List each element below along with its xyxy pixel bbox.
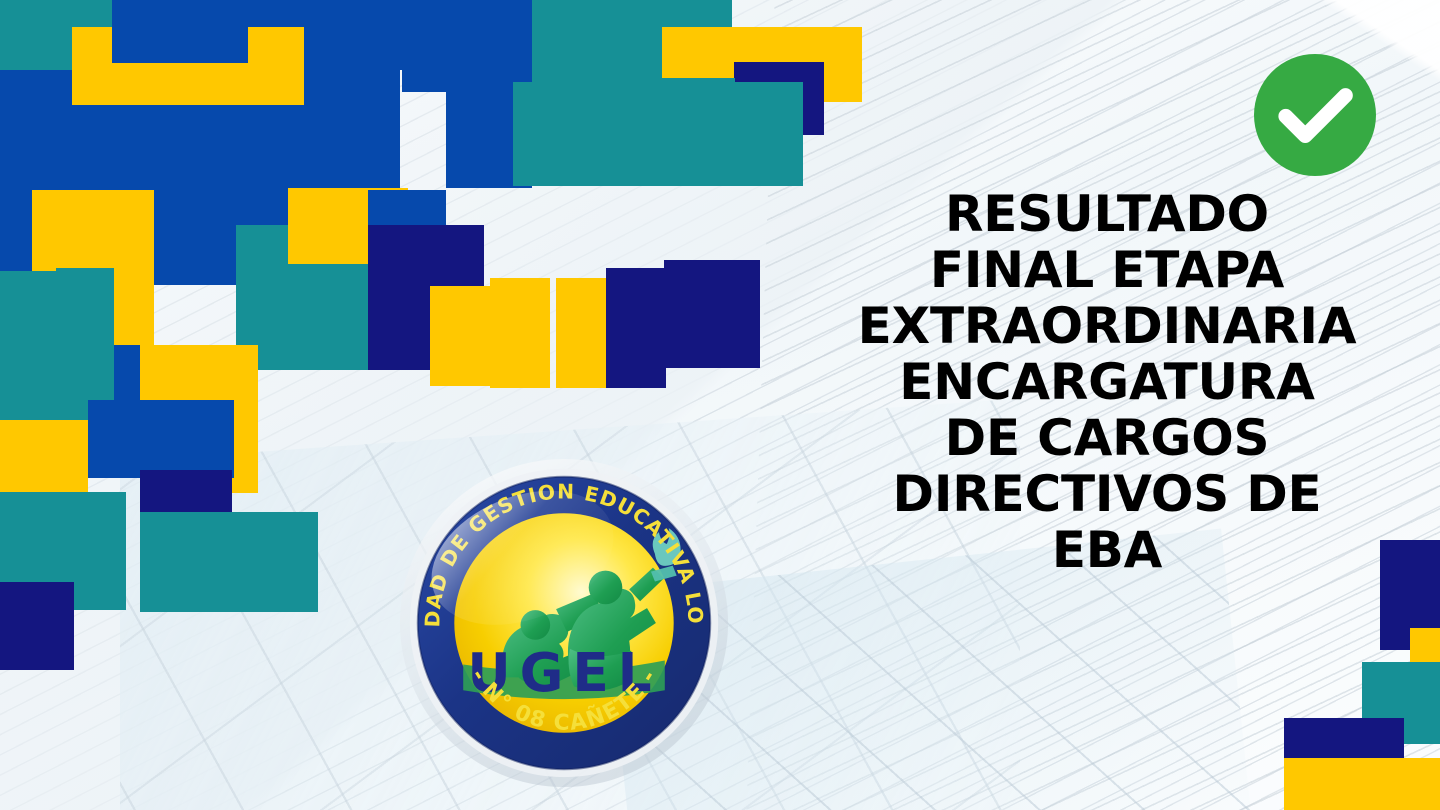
title-line-1: RESULTADO	[800, 186, 1414, 242]
title-line-4: ENCARGATURA	[800, 354, 1414, 410]
ugel-logo: UGEL UNIDAD DE GESTION EDUCATIVA LOCAL -…	[396, 455, 732, 791]
mosaic-block	[0, 420, 88, 498]
page-title: RESULTADO FINAL ETAPA EXTRAORDINARIA ENC…	[800, 186, 1414, 578]
mosaic-block	[664, 260, 760, 368]
mosaic-block	[88, 400, 234, 478]
mosaic-block	[606, 268, 666, 388]
mosaic-block	[513, 82, 803, 186]
check-circle-icon	[1254, 54, 1376, 176]
mosaic-block	[0, 582, 74, 670]
mosaic-block	[112, 27, 248, 65]
title-line-3: EXTRAORDINARIA	[800, 298, 1414, 354]
title-line-5: DE CARGOS	[800, 410, 1414, 466]
title-line-6: DIRECTIVOS DE	[800, 466, 1414, 522]
mosaic-block	[0, 271, 58, 421]
mosaic-block	[402, 0, 532, 92]
mosaic-block	[248, 27, 304, 105]
title-line-2: FINAL ETAPA	[800, 242, 1414, 298]
title-line-7: EBA	[800, 522, 1414, 578]
mosaic-block	[490, 278, 550, 388]
mosaic-block	[140, 512, 318, 612]
mosaic-block	[1284, 758, 1440, 810]
poster-canvas: RESULTADO FINAL ETAPA EXTRAORDINARIA ENC…	[0, 0, 1440, 810]
